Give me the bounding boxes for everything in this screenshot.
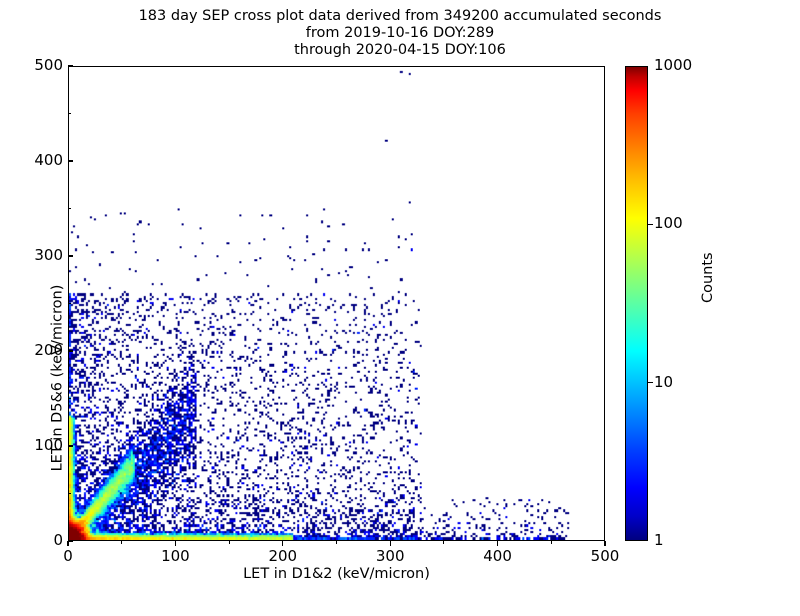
colorbar-tick-10 xyxy=(648,382,653,383)
x-tick-minor-450 xyxy=(551,541,552,544)
y-tick-minor-150 xyxy=(68,398,71,399)
y-tick-minor-250 xyxy=(68,303,71,304)
y-tick-300 xyxy=(68,255,73,256)
x-tick-500 xyxy=(604,541,605,546)
x-tick-200 xyxy=(282,541,283,546)
x-tick-minor-250 xyxy=(336,541,337,544)
x-tick-label-500: 500 xyxy=(570,547,640,565)
chart-title-line1: 183 day SEP cross plot data derived from… xyxy=(0,8,800,25)
y-tick-100 xyxy=(68,445,73,446)
chart-title-line2: from 2019-10-16 DOY:289 xyxy=(0,25,800,42)
x-tick-minor-150 xyxy=(229,541,230,544)
x-tick-label-300: 300 xyxy=(355,547,425,565)
colorbar-tick-label-1: 1 xyxy=(654,531,664,549)
x-tick-minor-350 xyxy=(443,541,444,544)
y-tick-label-500: 500 xyxy=(3,56,63,74)
x-tick-label-400: 400 xyxy=(463,547,533,565)
colorbar-label: Counts xyxy=(700,252,716,303)
y-axis-label: LET in D5&6 (keV/micron) xyxy=(50,141,66,616)
colorbar-tick-label-100: 100 xyxy=(654,214,683,232)
x-tick-minor-50 xyxy=(121,541,122,544)
plot-axes xyxy=(68,66,605,541)
colorbar-tick-100 xyxy=(648,224,653,225)
y-tick-500 xyxy=(68,65,73,66)
y-tick-0 xyxy=(68,540,73,541)
y-tick-minor-450 xyxy=(68,113,71,114)
colorbar-tick-label-10: 10 xyxy=(654,373,673,391)
figure: 183 day SEP cross plot data derived from… xyxy=(0,0,800,600)
x-axis-label: LET in D1&2 (keV/micron) xyxy=(68,566,605,582)
x-tick-label-0: 0 xyxy=(33,547,103,565)
x-tick-300 xyxy=(390,541,391,546)
scatter-plot-canvas xyxy=(69,67,604,540)
chart-title-block: 183 day SEP cross plot data derived from… xyxy=(0,8,800,59)
y-tick-200 xyxy=(68,350,73,351)
x-tick-100 xyxy=(175,541,176,546)
y-tick-minor-350 xyxy=(68,208,71,209)
x-tick-label-200: 200 xyxy=(248,547,318,565)
colorbar xyxy=(625,66,648,541)
x-tick-400 xyxy=(497,541,498,546)
x-tick-0 xyxy=(67,541,68,546)
y-tick-400 xyxy=(68,160,73,161)
y-tick-minor-50 xyxy=(68,493,71,494)
x-tick-label-100: 100 xyxy=(140,547,210,565)
colorbar-tick-label-1000: 1000 xyxy=(654,56,692,74)
